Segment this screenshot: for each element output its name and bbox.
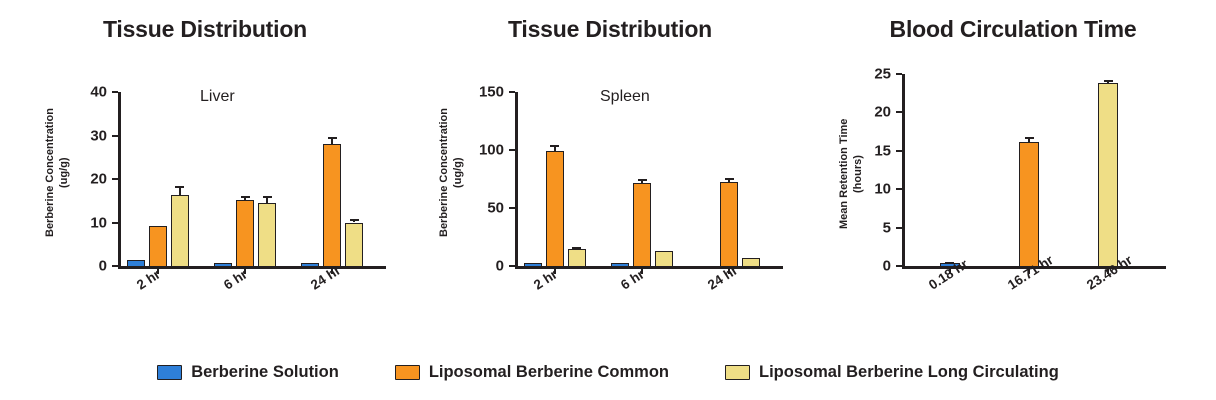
y-tick bbox=[896, 227, 902, 229]
y-tick bbox=[896, 150, 902, 152]
panel-spleen-plot-area: 0501001502 hr6 hr24 hr bbox=[515, 92, 777, 266]
error-bar-cap bbox=[175, 186, 184, 188]
bar bbox=[568, 249, 586, 266]
bar bbox=[524, 263, 542, 266]
panel-liver-y-axis-title: Berberine Concentration (ug/g) bbox=[44, 78, 72, 268]
panel-blood-circulation: Blood Circulation Time Mean Retention Ti… bbox=[810, 0, 1216, 348]
bar bbox=[149, 226, 167, 266]
y-tick bbox=[896, 188, 902, 190]
error-bar-cap bbox=[263, 196, 272, 198]
y-tick-label: 20 bbox=[90, 171, 107, 188]
panel-liver-plot-area: 0102030402 hr6 hr24 hr bbox=[118, 92, 380, 266]
error-bar-cap bbox=[725, 178, 734, 180]
y-tick bbox=[112, 91, 118, 93]
bar bbox=[1019, 142, 1039, 266]
y-tick-label: 10 bbox=[90, 214, 107, 231]
legend-label-berberine-solution: Berberine Solution bbox=[191, 363, 339, 382]
y-axis-line bbox=[515, 92, 518, 267]
error-bar-cap bbox=[1104, 80, 1113, 82]
y-tick-label: 20 bbox=[874, 104, 891, 121]
bar bbox=[742, 258, 760, 266]
bar bbox=[236, 200, 254, 266]
bar bbox=[720, 182, 738, 266]
y-axis-line bbox=[902, 74, 905, 267]
y-tick-label: 0 bbox=[99, 258, 107, 275]
error-bar-cap bbox=[350, 219, 359, 221]
y-axis-line bbox=[118, 92, 121, 267]
error-bar-cap bbox=[572, 247, 581, 249]
panel-liver-title: Tissue Distribution bbox=[0, 16, 410, 43]
y-tick-label: 40 bbox=[90, 84, 107, 101]
bar bbox=[301, 263, 319, 266]
error-bar-cap bbox=[550, 145, 559, 147]
bar bbox=[127, 260, 145, 266]
bar bbox=[1098, 83, 1118, 266]
bar bbox=[655, 251, 673, 266]
bar bbox=[633, 183, 651, 266]
panel-blood-circulation-y-axis-title: Mean Retention Time (hours) bbox=[838, 76, 866, 272]
bar bbox=[258, 203, 276, 266]
bar bbox=[323, 144, 341, 266]
y-tick bbox=[509, 91, 515, 93]
legend: Berberine Solution Liposomal Berberine C… bbox=[0, 352, 1216, 392]
panels-row: Tissue Distribution Liver Berberine Conc… bbox=[0, 0, 1216, 348]
legend-item-liposomal-common: Liposomal Berberine Common bbox=[395, 363, 669, 382]
legend-item-liposomal-long: Liposomal Berberine Long Circulating bbox=[725, 363, 1059, 382]
y-tick-label: 100 bbox=[479, 142, 504, 159]
y-tick-label: 0 bbox=[496, 258, 504, 275]
y-tick bbox=[509, 149, 515, 151]
y-tick bbox=[112, 222, 118, 224]
y-tick bbox=[896, 73, 902, 75]
error-bar-cap bbox=[638, 179, 647, 181]
bar bbox=[214, 263, 232, 266]
y-tick bbox=[112, 178, 118, 180]
y-tick bbox=[112, 265, 118, 267]
legend-swatch-liposomal-common bbox=[395, 365, 420, 380]
legend-swatch-berberine-solution bbox=[157, 365, 182, 380]
y-tick-label: 15 bbox=[874, 142, 891, 159]
figure-canvas: Tissue Distribution Liver Berberine Conc… bbox=[0, 0, 1216, 400]
bar bbox=[345, 223, 363, 267]
panel-blood-circulation-plot-area: 05101520250.18 hr16.71 hr23.46 hr bbox=[902, 74, 1140, 266]
panel-spleen: Tissue Distribution Spleen Berberine Con… bbox=[410, 0, 810, 348]
y-tick-label: 10 bbox=[874, 181, 891, 198]
bar bbox=[611, 263, 629, 266]
error-bar-cap bbox=[328, 137, 337, 139]
legend-item-berberine-solution: Berberine Solution bbox=[157, 363, 339, 382]
error-bar-cap bbox=[1025, 137, 1034, 139]
y-tick-label: 150 bbox=[479, 84, 504, 101]
y-tick bbox=[112, 135, 118, 137]
y-tick-label: 50 bbox=[487, 200, 504, 217]
bar bbox=[171, 195, 189, 266]
legend-label-liposomal-long: Liposomal Berberine Long Circulating bbox=[759, 363, 1059, 382]
error-bar-cap bbox=[241, 196, 250, 198]
y-tick bbox=[509, 265, 515, 267]
panel-liver: Tissue Distribution Liver Berberine Conc… bbox=[0, 0, 410, 348]
y-tick-label: 30 bbox=[90, 127, 107, 144]
y-tick-label: 5 bbox=[883, 219, 891, 236]
panel-spleen-title: Tissue Distribution bbox=[410, 16, 810, 43]
y-tick bbox=[896, 265, 902, 267]
y-tick bbox=[509, 207, 515, 209]
panel-spleen-y-axis-title: Berberine Concentration (ug/g) bbox=[438, 78, 466, 268]
y-tick bbox=[896, 111, 902, 113]
y-tick-label: 25 bbox=[874, 66, 891, 83]
panel-blood-circulation-title: Blood Circulation Time bbox=[810, 16, 1216, 43]
legend-label-liposomal-common: Liposomal Berberine Common bbox=[429, 363, 669, 382]
legend-swatch-liposomal-long bbox=[725, 365, 750, 380]
y-tick-label: 0 bbox=[883, 258, 891, 275]
bar bbox=[546, 151, 564, 266]
